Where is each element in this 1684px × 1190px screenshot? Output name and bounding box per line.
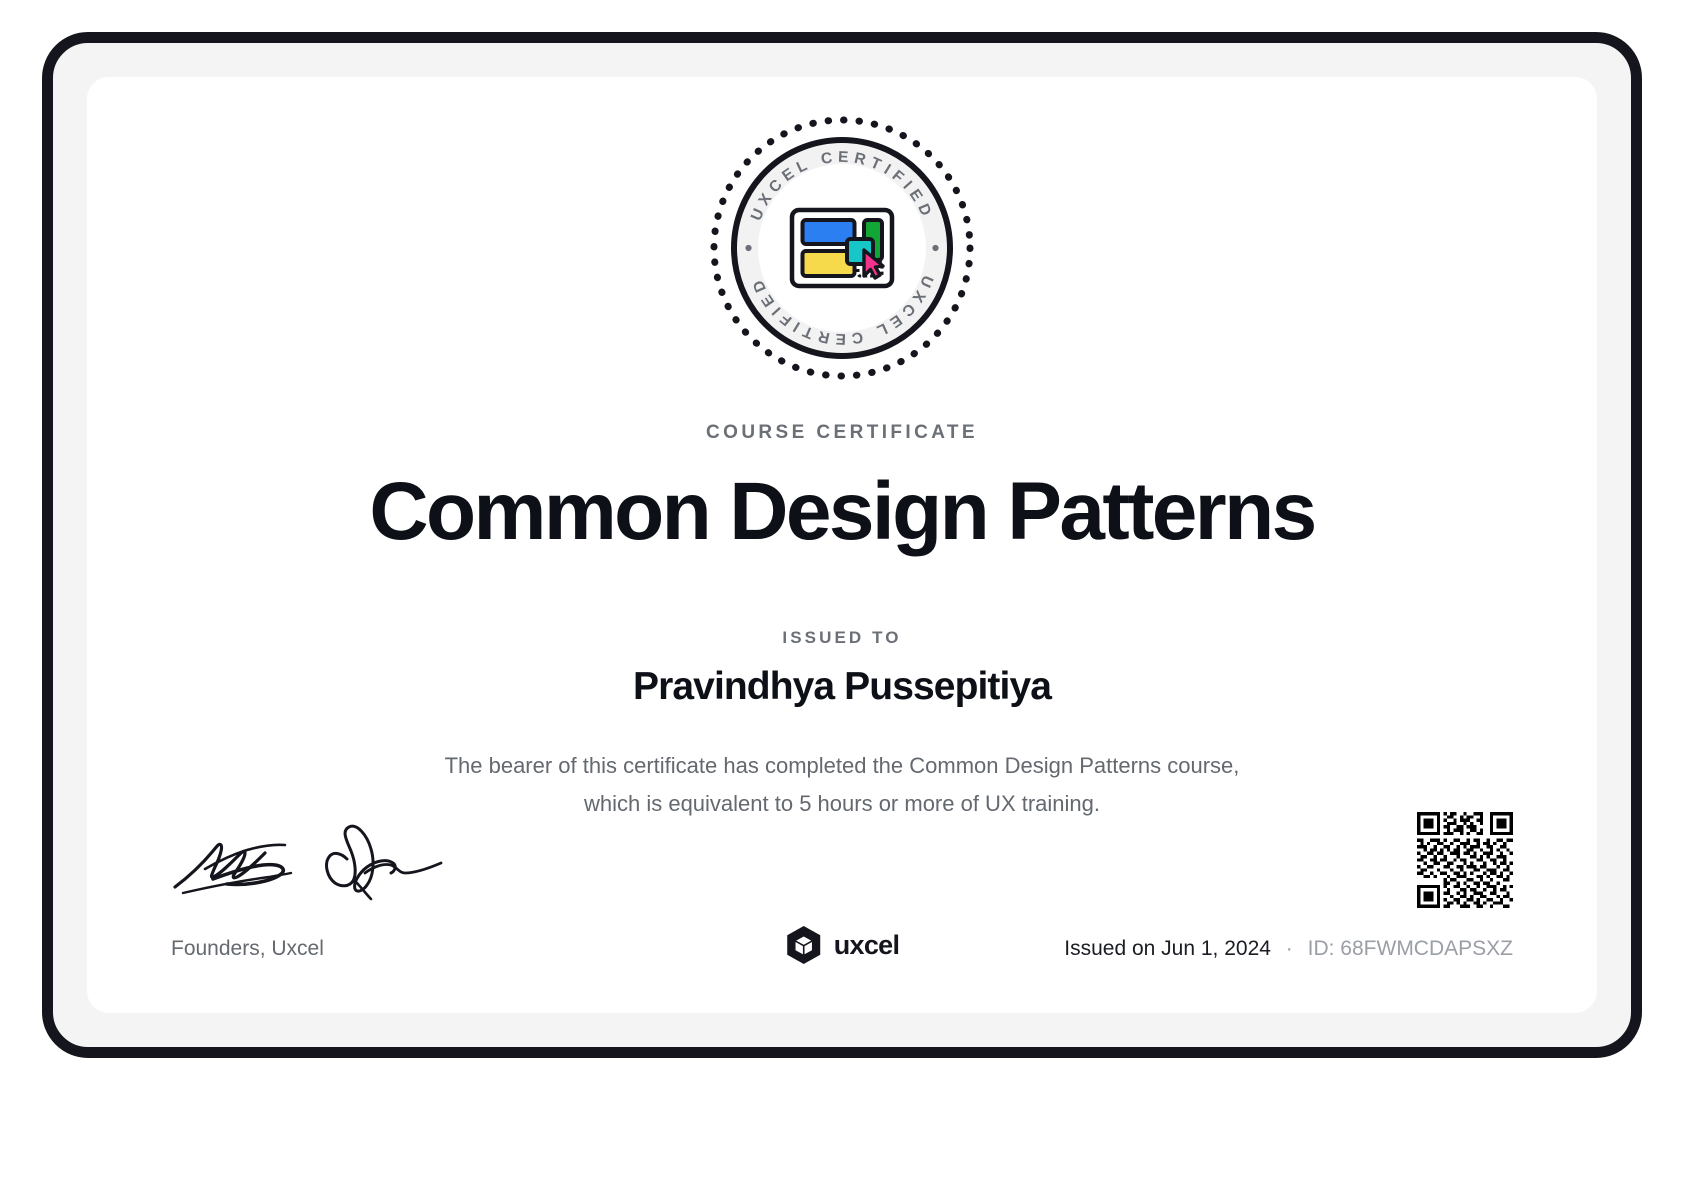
recipient-name: Pravindhya Pussepitiya [87, 665, 1597, 709]
founder-signatures [169, 815, 459, 905]
uxcel-certified-seal: UXCEL CERTIFIED UXCEL CERTIFIED [708, 114, 976, 382]
issued-to-label: ISSUED TO [87, 628, 1597, 648]
seal-bullet-right [932, 245, 938, 251]
issue-metadata: Issued on Jun 1, 2024 · ID: 68FWMCDAPSXZ [1064, 937, 1513, 961]
certificate-id: ID: 68FWMCDAPSXZ [1308, 937, 1513, 960]
certificate-card: UXCEL CERTIFIED UXCEL CERTIFIED [87, 77, 1597, 1013]
issued-on-date: Issued on Jun 1, 2024 [1064, 937, 1271, 960]
course-title: Common Design Patterns [87, 465, 1597, 559]
uxcel-wordmark: uxcel [834, 930, 900, 961]
uxcel-brand: uxcel [785, 925, 900, 965]
meta-separator: · [1277, 937, 1302, 960]
seal-bullet-left [745, 245, 751, 251]
certificate-kicker: COURSE CERTIFICATE [87, 422, 1597, 444]
signature-caption: Founders, Uxcel [171, 937, 324, 961]
certificate-description: The bearer of this certificate has compl… [437, 747, 1247, 823]
certificate-frame: UXCEL CERTIFIED UXCEL CERTIFIED [42, 32, 1642, 1058]
verification-qr-code[interactable] [1417, 812, 1513, 908]
design-patterns-icon [792, 210, 892, 286]
uxcel-logo-icon [785, 925, 823, 965]
